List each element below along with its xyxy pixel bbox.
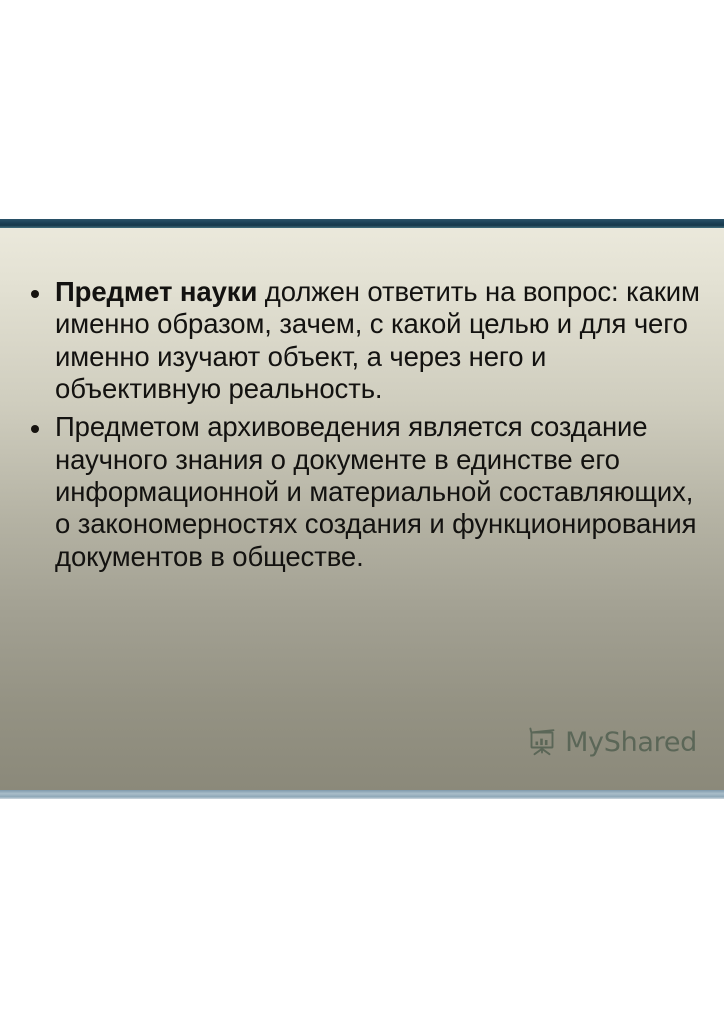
watermark-label: MyShared (565, 727, 697, 758)
slide-content: Предмет науки должен ответить на вопрос:… (0, 228, 724, 790)
page-canvas: Предмет науки должен ответить на вопрос:… (0, 0, 724, 1024)
slide-top-border (0, 219, 724, 228)
bullet-list: Предмет науки должен ответить на вопрос:… (22, 276, 702, 573)
list-item: Предметом архивоведения является создани… (22, 411, 702, 573)
easel-bar-chart-icon (526, 726, 558, 758)
presentation-slide: Предмет науки должен ответить на вопрос:… (0, 219, 724, 799)
bullet-lead-text: Предмет науки (55, 276, 257, 307)
list-item: Предмет науки должен ответить на вопрос:… (22, 276, 702, 405)
bullet-body-text: Предметом архивоведения является создани… (55, 411, 696, 571)
slide-bottom-border (0, 790, 724, 799)
myshared-watermark: MyShared (526, 726, 697, 758)
